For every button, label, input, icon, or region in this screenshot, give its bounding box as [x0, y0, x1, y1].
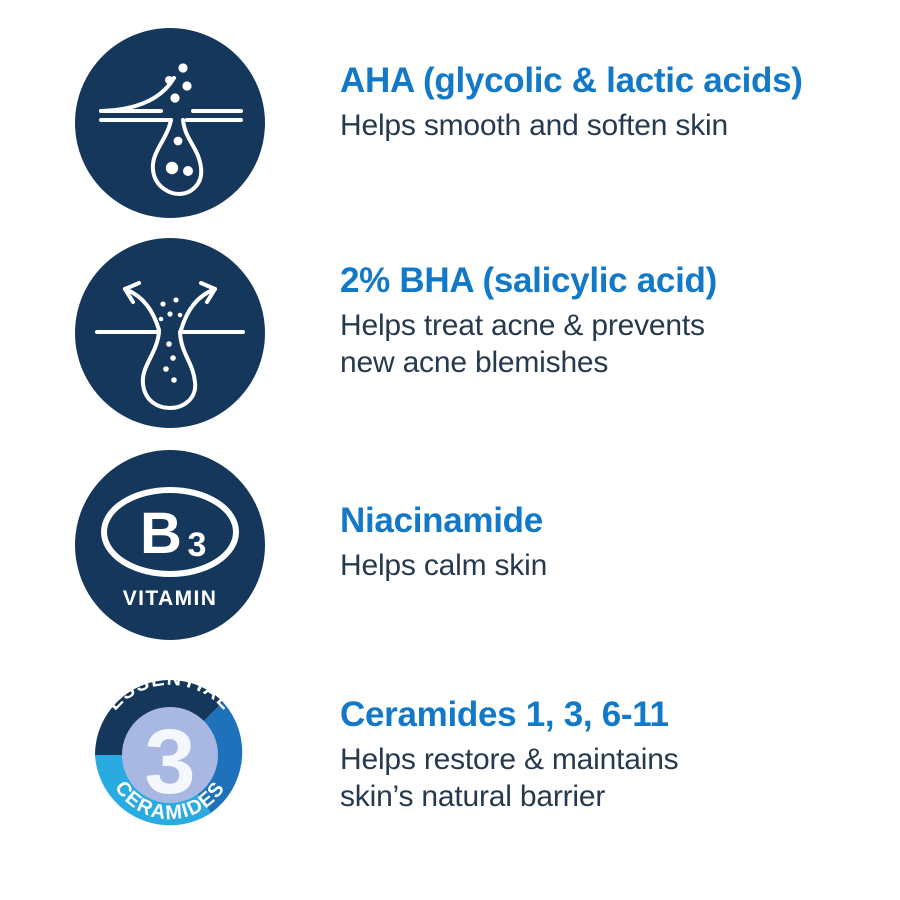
icon-slot-niacinamide: B 3 VITAMIN	[0, 450, 340, 640]
svg-text:VITAMIN: VITAMIN	[123, 587, 218, 610]
pore-unclogging-icon	[75, 238, 265, 428]
ingredient-body-line: Helps treat acne & prevents	[340, 307, 900, 345]
ingredient-heading: 2% BHA (salicylic acid)	[340, 262, 900, 301]
icon-slot-aha	[0, 28, 340, 218]
ingredient-row-niacinamide: B 3 VITAMIN Niacinamide Helps calm skin	[0, 450, 900, 640]
ingredient-body-line: Helps restore & maintains	[340, 741, 900, 779]
ceramide-count: 3	[144, 711, 195, 813]
pore-exfoliation-icon	[75, 28, 265, 218]
text-slot-ceramides: Ceramides 1, 3, 6-11 Helps restore & mai…	[340, 660, 900, 816]
ingredient-body-line: Helps calm skin	[340, 547, 900, 585]
ingredient-row-bha: 2% BHA (salicylic acid) Helps treat acne…	[0, 238, 900, 428]
ingredient-heading: Niacinamide	[340, 502, 900, 541]
text-slot-bha: 2% BHA (salicylic acid) Helps treat acne…	[340, 238, 900, 382]
svg-text:3: 3	[188, 526, 207, 564]
essential-3-ceramides-badge-icon: 3 ESSENTIAL CERAMIDES	[75, 660, 265, 850]
ingredient-body-line: new acne blemishes	[340, 344, 900, 382]
icon-slot-bha	[0, 238, 340, 428]
ingredient-body-line: skin’s natural barrier	[340, 778, 900, 816]
svg-text:B: B	[140, 501, 182, 566]
vitamin-b3-icon: B 3 VITAMIN	[75, 450, 265, 640]
text-slot-aha: AHA (glycolic & lactic acids) Helps smoo…	[340, 28, 900, 144]
icon-slot-ceramides: 3 ESSENTIAL CERAMIDES	[0, 660, 340, 850]
ingredient-row-ceramides: 3 ESSENTIAL CERAMIDES Ceramides 1, 3, 6-…	[0, 660, 900, 850]
ingredient-body-line: Helps smooth and soften skin	[340, 107, 900, 145]
ingredient-heading: Ceramides 1, 3, 6-11	[340, 696, 900, 735]
ingredient-row-aha: AHA (glycolic & lactic acids) Helps smoo…	[0, 28, 900, 218]
ingredient-heading: AHA (glycolic & lactic acids)	[340, 62, 900, 101]
text-slot-niacinamide: Niacinamide Helps calm skin	[340, 450, 900, 584]
ingredient-benefits-panel: AHA (glycolic & lactic acids) Helps smoo…	[0, 0, 900, 900]
